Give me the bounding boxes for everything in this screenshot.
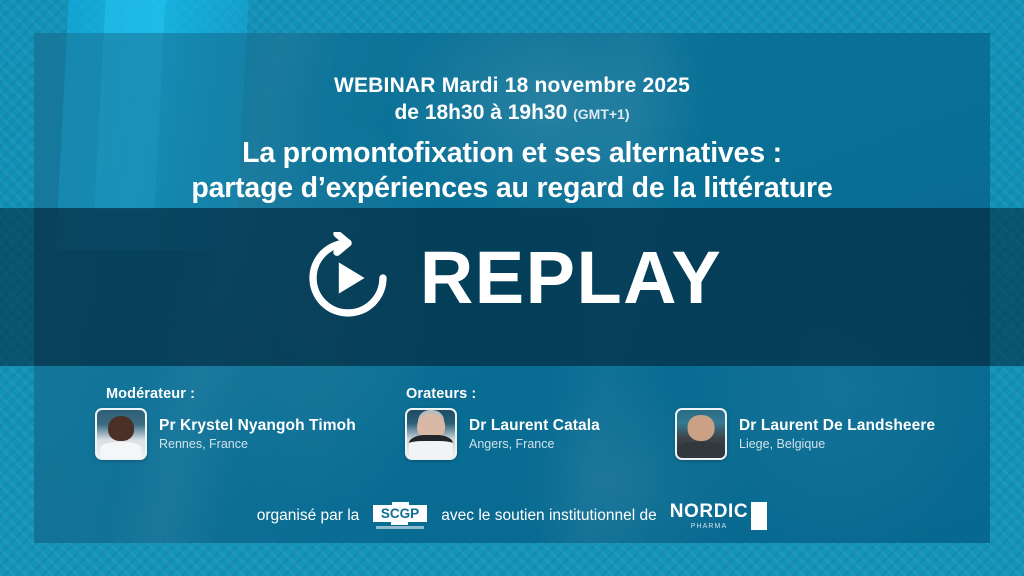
- person-location: Rennes, France: [159, 436, 356, 453]
- page-title-line-2: partage d’expériences au regard de la li…: [0, 171, 1024, 206]
- person-name: Dr Laurent Catala: [469, 416, 600, 436]
- webinar-timezone: (GMT+1): [573, 106, 629, 122]
- person-card-speaker-1: Dr Laurent Catala Angers, France: [405, 408, 600, 460]
- webinar-time-range: de 18h30 à 19h30: [394, 101, 567, 124]
- people-section: Modérateur : Orateurs : Pr Krystel Nyang…: [0, 386, 1024, 486]
- supported-by-label: avec le soutien institutionnel de: [441, 506, 656, 526]
- scgp-logo-text: SCGP: [381, 506, 419, 521]
- page-title-line-1: La promontofixation et ses alternatives …: [0, 136, 1024, 171]
- person-name: Pr Krystel Nyangoh Timoh: [159, 416, 356, 436]
- avatar: [675, 408, 727, 460]
- webinar-replay-banner: WEBINAR Mardi 18 novembre 2025 de 18h30 …: [0, 0, 1024, 576]
- moderator-role-label: Modérateur :: [106, 386, 195, 402]
- page-title: La promontofixation et ses alternatives …: [0, 136, 1024, 206]
- nordic-logo-block: [751, 502, 767, 530]
- replay-block[interactable]: REPLAY: [0, 232, 1024, 324]
- avatar: [95, 408, 147, 460]
- speakers-role-label: Orateurs :: [406, 386, 476, 402]
- replay-label[interactable]: REPLAY: [420, 241, 722, 315]
- scgp-logo[interactable]: SCGP: [372, 500, 428, 532]
- person-card-speaker-2: Dr Laurent De Landsheere Liege, Belgique: [675, 408, 935, 460]
- webinar-datetime: WEBINAR Mardi 18 novembre 2025 de 18h30 …: [0, 72, 1024, 128]
- nordic-pharma-logo[interactable]: NORDIC PHARMA: [670, 502, 768, 530]
- replay-circular-arrow-play-icon[interactable]: [302, 232, 394, 324]
- footer-sponsors: organisé par la SCGP avec le soutien ins…: [0, 500, 1024, 532]
- nordic-logo-subtext: PHARMA: [691, 523, 728, 530]
- avatar: [405, 408, 457, 460]
- person-name: Dr Laurent De Landsheere: [739, 416, 935, 436]
- organised-by-label: organisé par la: [257, 506, 360, 526]
- person-location: Angers, France: [469, 436, 600, 453]
- nordic-logo-text: NORDIC: [670, 502, 749, 521]
- person-card-moderator: Pr Krystel Nyangoh Timoh Rennes, France: [95, 408, 356, 460]
- webinar-time-line: de 18h30 à 19h30 (GMT+1): [0, 99, 1024, 128]
- person-location: Liege, Belgique: [739, 436, 935, 453]
- webinar-date-line: WEBINAR Mardi 18 novembre 2025: [0, 72, 1024, 99]
